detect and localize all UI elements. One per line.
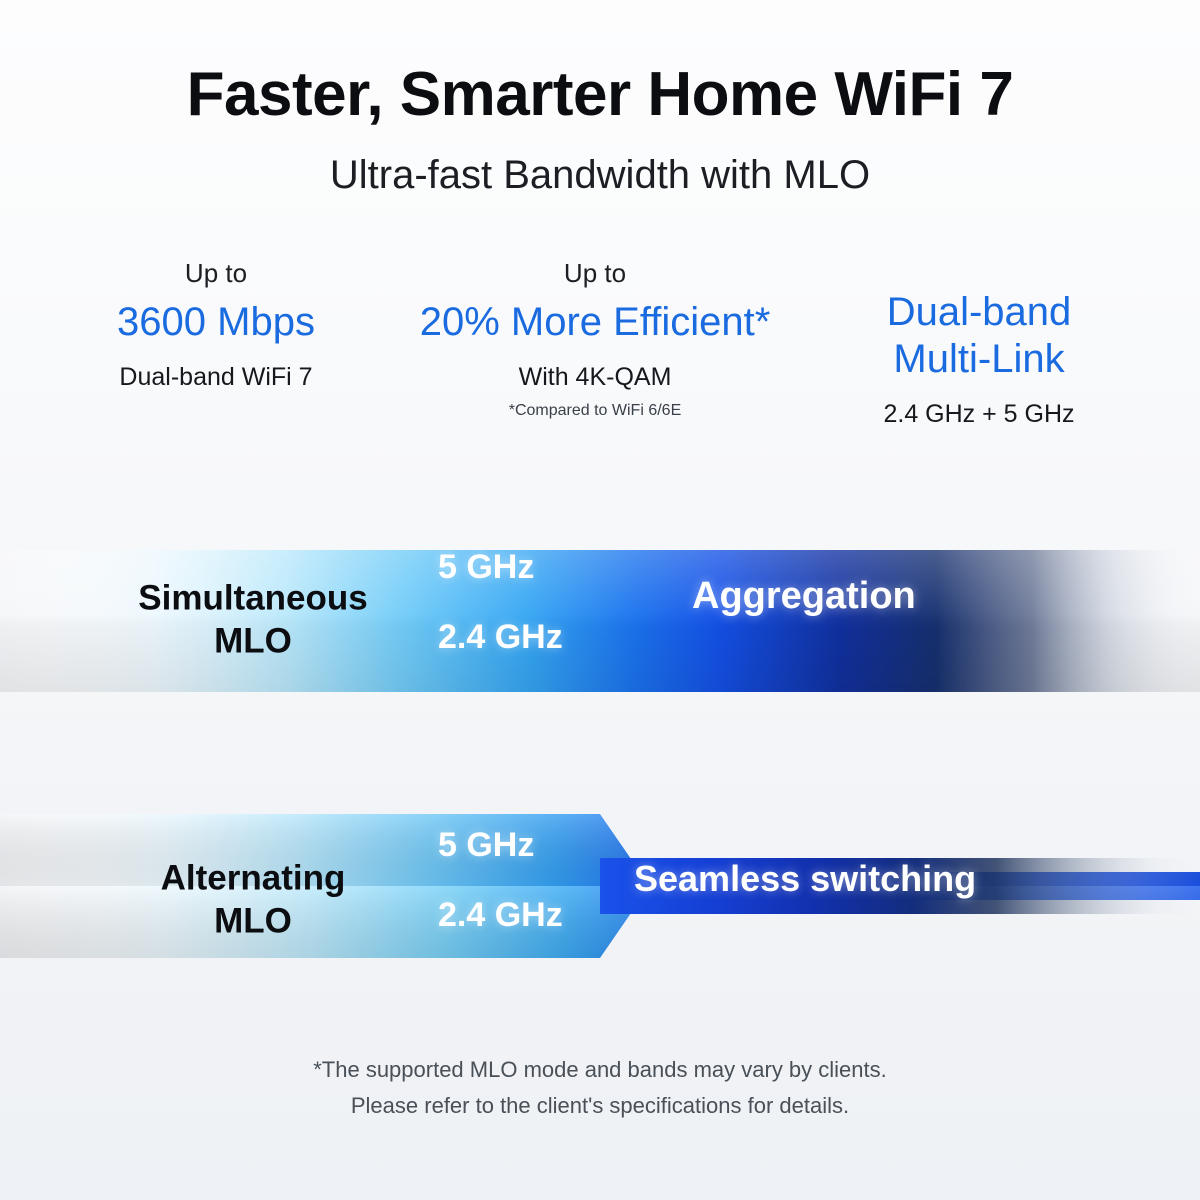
stat-value: 20% More Efficient* bbox=[366, 299, 824, 346]
page-title: Faster, Smarter Home WiFi 7 bbox=[0, 62, 1200, 127]
header: Faster, Smarter Home WiFi 7 Ultra-fast B… bbox=[0, 0, 1200, 197]
stat-caption: With 4K-QAM bbox=[366, 362, 824, 392]
mlo-diagram-simultaneous: Simultaneous MLO 5 GHz 2.4 GHz Aggregati… bbox=[0, 520, 1200, 720]
stat-card-speed: Up to 3600 Mbps Dual-band WiFi 7 bbox=[66, 259, 366, 392]
stat-eyebrow: Up to bbox=[366, 259, 824, 289]
mlo-diagram-alternating: Alternating MLO 5 GHz 2.4 GHz Seamless s… bbox=[0, 800, 1200, 1000]
alternating-band-graphic bbox=[0, 800, 1200, 1000]
stat-value-line-2: Multi-Link bbox=[824, 336, 1134, 383]
stat-eyebrow bbox=[824, 259, 1134, 289]
page-subtitle: Ultra-fast Bandwidth with MLO bbox=[0, 153, 1200, 197]
footer-disclaimer: *The supported MLO mode and bands may va… bbox=[0, 1052, 1200, 1123]
mlo-diagrams: Simultaneous MLO 5 GHz 2.4 GHz Aggregati… bbox=[0, 520, 1200, 1000]
stat-eyebrow: Up to bbox=[66, 259, 366, 289]
infographic-page: Faster, Smarter Home WiFi 7 Ultra-fast B… bbox=[0, 0, 1200, 1200]
stats-row: Up to 3600 Mbps Dual-band WiFi 7 Up to 2… bbox=[0, 259, 1200, 429]
stat-caption: Dual-band WiFi 7 bbox=[66, 362, 366, 392]
stat-value: Dual-band Multi-Link bbox=[824, 289, 1134, 383]
stat-footnote: *Compared to WiFi 6/6E bbox=[366, 401, 824, 420]
stat-card-efficiency: Up to 20% More Efficient* With 4K-QAM *C… bbox=[366, 259, 824, 420]
stat-caption: 2.4 GHz + 5 GHz bbox=[824, 399, 1134, 429]
simultaneous-band-graphic bbox=[0, 520, 1200, 720]
footer-line-1: *The supported MLO mode and bands may va… bbox=[0, 1052, 1200, 1088]
stat-value: 3600 Mbps bbox=[66, 299, 366, 346]
stat-card-multilink: Dual-band Multi-Link 2.4 GHz + 5 GHz bbox=[824, 259, 1134, 429]
footer-line-2: Please refer to the client's specificati… bbox=[0, 1088, 1200, 1124]
stat-value-line-1: Dual-band bbox=[824, 289, 1134, 336]
